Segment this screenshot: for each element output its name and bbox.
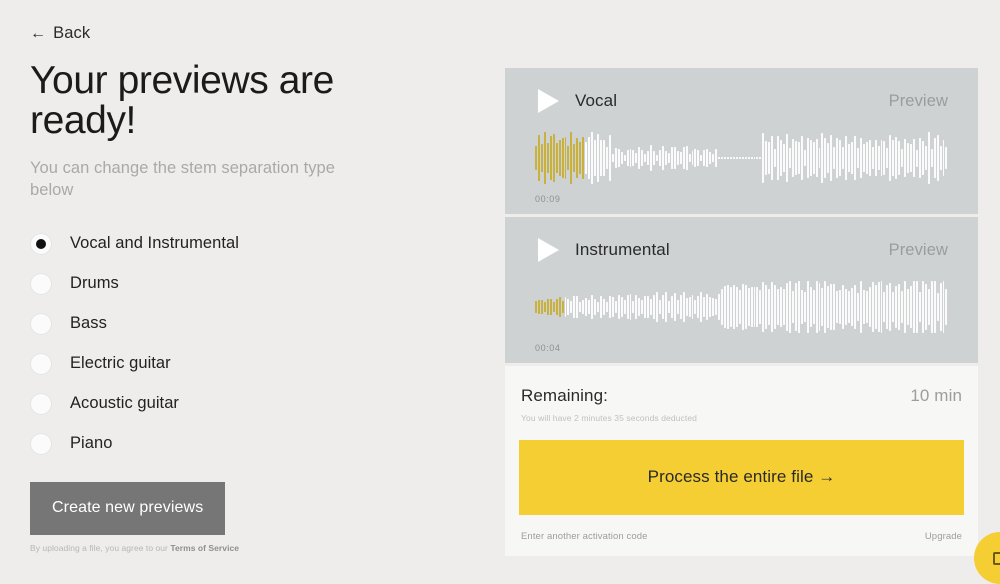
waveform-instrumental[interactable] <box>535 281 948 333</box>
stem-timestamp: 00:09 <box>535 194 962 204</box>
remaining-row: Remaining: 10 min <box>519 386 964 406</box>
option-vocal-and-instrumental[interactable]: Vocal and Instrumental <box>30 224 450 264</box>
right-panel: Vocal Preview 00:09 Instrumental Preview… <box>505 68 978 556</box>
waveform-vocal[interactable] <box>535 132 948 184</box>
option-bass[interactable]: Bass <box>30 304 450 344</box>
legal-text: By uploading a file, you agree to our <box>30 543 170 553</box>
stem-type-options: Vocal and Instrumental Drums Bass Electr… <box>30 224 450 464</box>
remaining-value: 10 min <box>910 386 962 406</box>
process-entire-file-button[interactable]: Process the entire file → <box>519 440 964 515</box>
terms-of-service-link[interactable]: Terms of Service <box>170 543 239 553</box>
left-panel: ← Back Your previews are ready! You can … <box>30 24 450 535</box>
stem-timestamp: 00:04 <box>535 343 962 353</box>
radio-icon[interactable] <box>30 313 52 335</box>
app-root: ← Back Your previews are ready! You can … <box>0 0 1000 563</box>
option-piano[interactable]: Piano <box>30 424 450 464</box>
activation-code-link[interactable]: Enter another activation code <box>521 531 647 542</box>
create-new-previews-button[interactable]: Create new previews <box>30 482 225 535</box>
preview-label: Preview <box>889 92 948 111</box>
preview-label: Preview <box>889 241 948 260</box>
waveform-bars[interactable] <box>535 281 948 333</box>
stem-header: Vocal Preview <box>521 86 962 116</box>
option-label: Piano <box>70 434 112 453</box>
page-subtitle: You can change the stem separation type … <box>30 158 370 202</box>
option-drums[interactable]: Drums <box>30 264 450 304</box>
summary-panel: Remaining: 10 min You will have 2 minute… <box>505 366 978 556</box>
waveform-bars[interactable] <box>535 132 948 184</box>
option-label: Drums <box>70 274 119 293</box>
radio-icon[interactable] <box>30 433 52 455</box>
option-acoustic-guitar[interactable]: Acoustic guitar <box>30 384 450 424</box>
stem-name: Vocal <box>575 91 617 111</box>
option-label: Bass <box>70 314 107 333</box>
summary-links: Enter another activation code Upgrade <box>519 531 964 542</box>
back-link[interactable]: ← Back <box>30 24 90 43</box>
stem-card-vocal: Vocal Preview 00:09 <box>505 68 978 214</box>
option-label: Electric guitar <box>70 354 171 373</box>
radio-icon[interactable] <box>30 233 52 255</box>
remaining-label: Remaining: <box>521 386 608 406</box>
deduction-note: You will have 2 minutes 35 seconds deduc… <box>519 413 964 423</box>
legal-disclaimer: By uploading a file, you agree to our Te… <box>30 543 239 553</box>
play-icon[interactable] <box>538 238 559 262</box>
page-title: Your previews are ready! <box>30 61 370 141</box>
stem-name: Instrumental <box>575 240 670 260</box>
radio-icon[interactable] <box>30 353 52 375</box>
option-label: Acoustic guitar <box>70 394 179 413</box>
option-electric-guitar[interactable]: Electric guitar <box>30 344 450 384</box>
arrow-left-icon: ← <box>30 26 46 42</box>
back-label: Back <box>53 24 90 43</box>
stem-header: Instrumental Preview <box>521 235 962 265</box>
option-label: Vocal and Instrumental <box>70 234 239 253</box>
radio-icon[interactable] <box>30 393 52 415</box>
stem-card-instrumental: Instrumental Preview 00:04 <box>505 217 978 363</box>
upgrade-link[interactable]: Upgrade <box>925 531 962 542</box>
radio-icon[interactable] <box>30 273 52 295</box>
play-icon[interactable] <box>538 89 559 113</box>
